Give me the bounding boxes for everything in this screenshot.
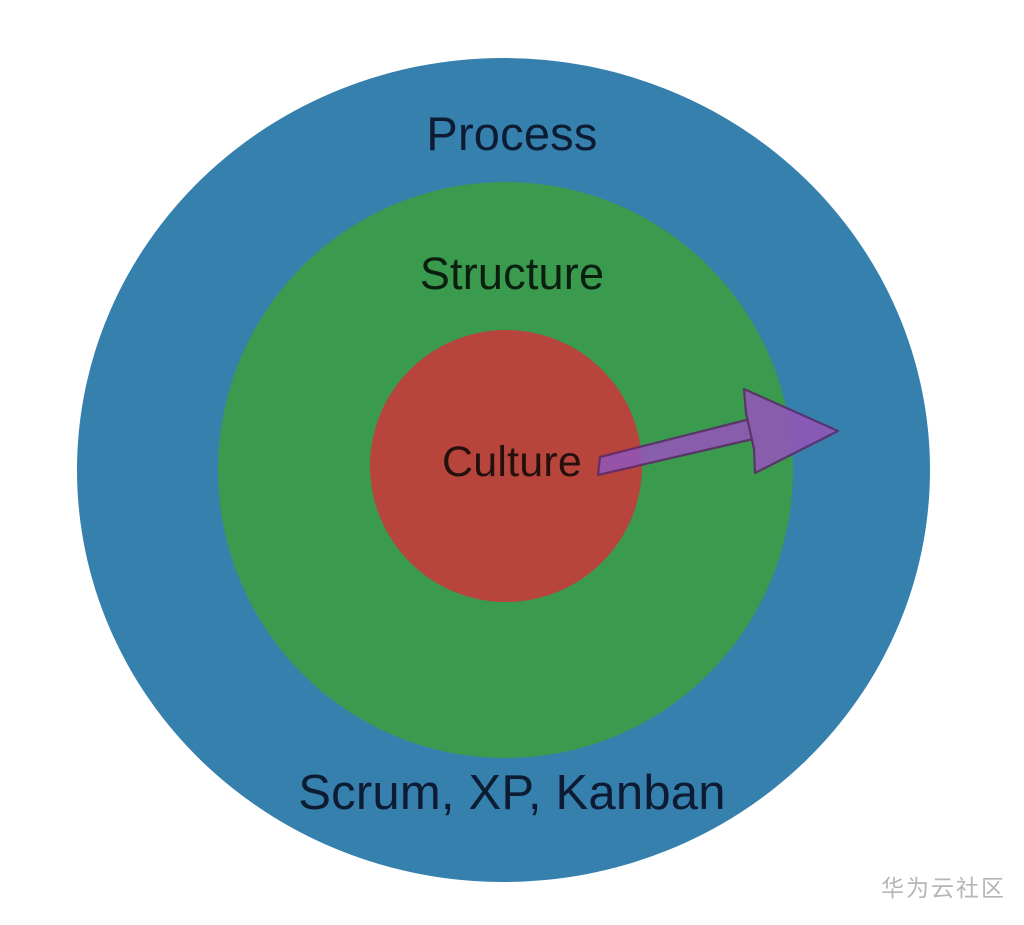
- watermark-text: 华为云社区: [881, 869, 1006, 903]
- ring-label-culture: Culture: [0, 438, 1024, 487]
- ring-label-structure: Structure: [0, 248, 1024, 300]
- ring-sublabel-practices: Scrum, XP, Kanban: [0, 765, 1024, 821]
- concentric-circles-diagram: Process Structure Culture Scrum, XP, Kan…: [0, 0, 1024, 925]
- ring-label-process: Process: [0, 106, 1024, 161]
